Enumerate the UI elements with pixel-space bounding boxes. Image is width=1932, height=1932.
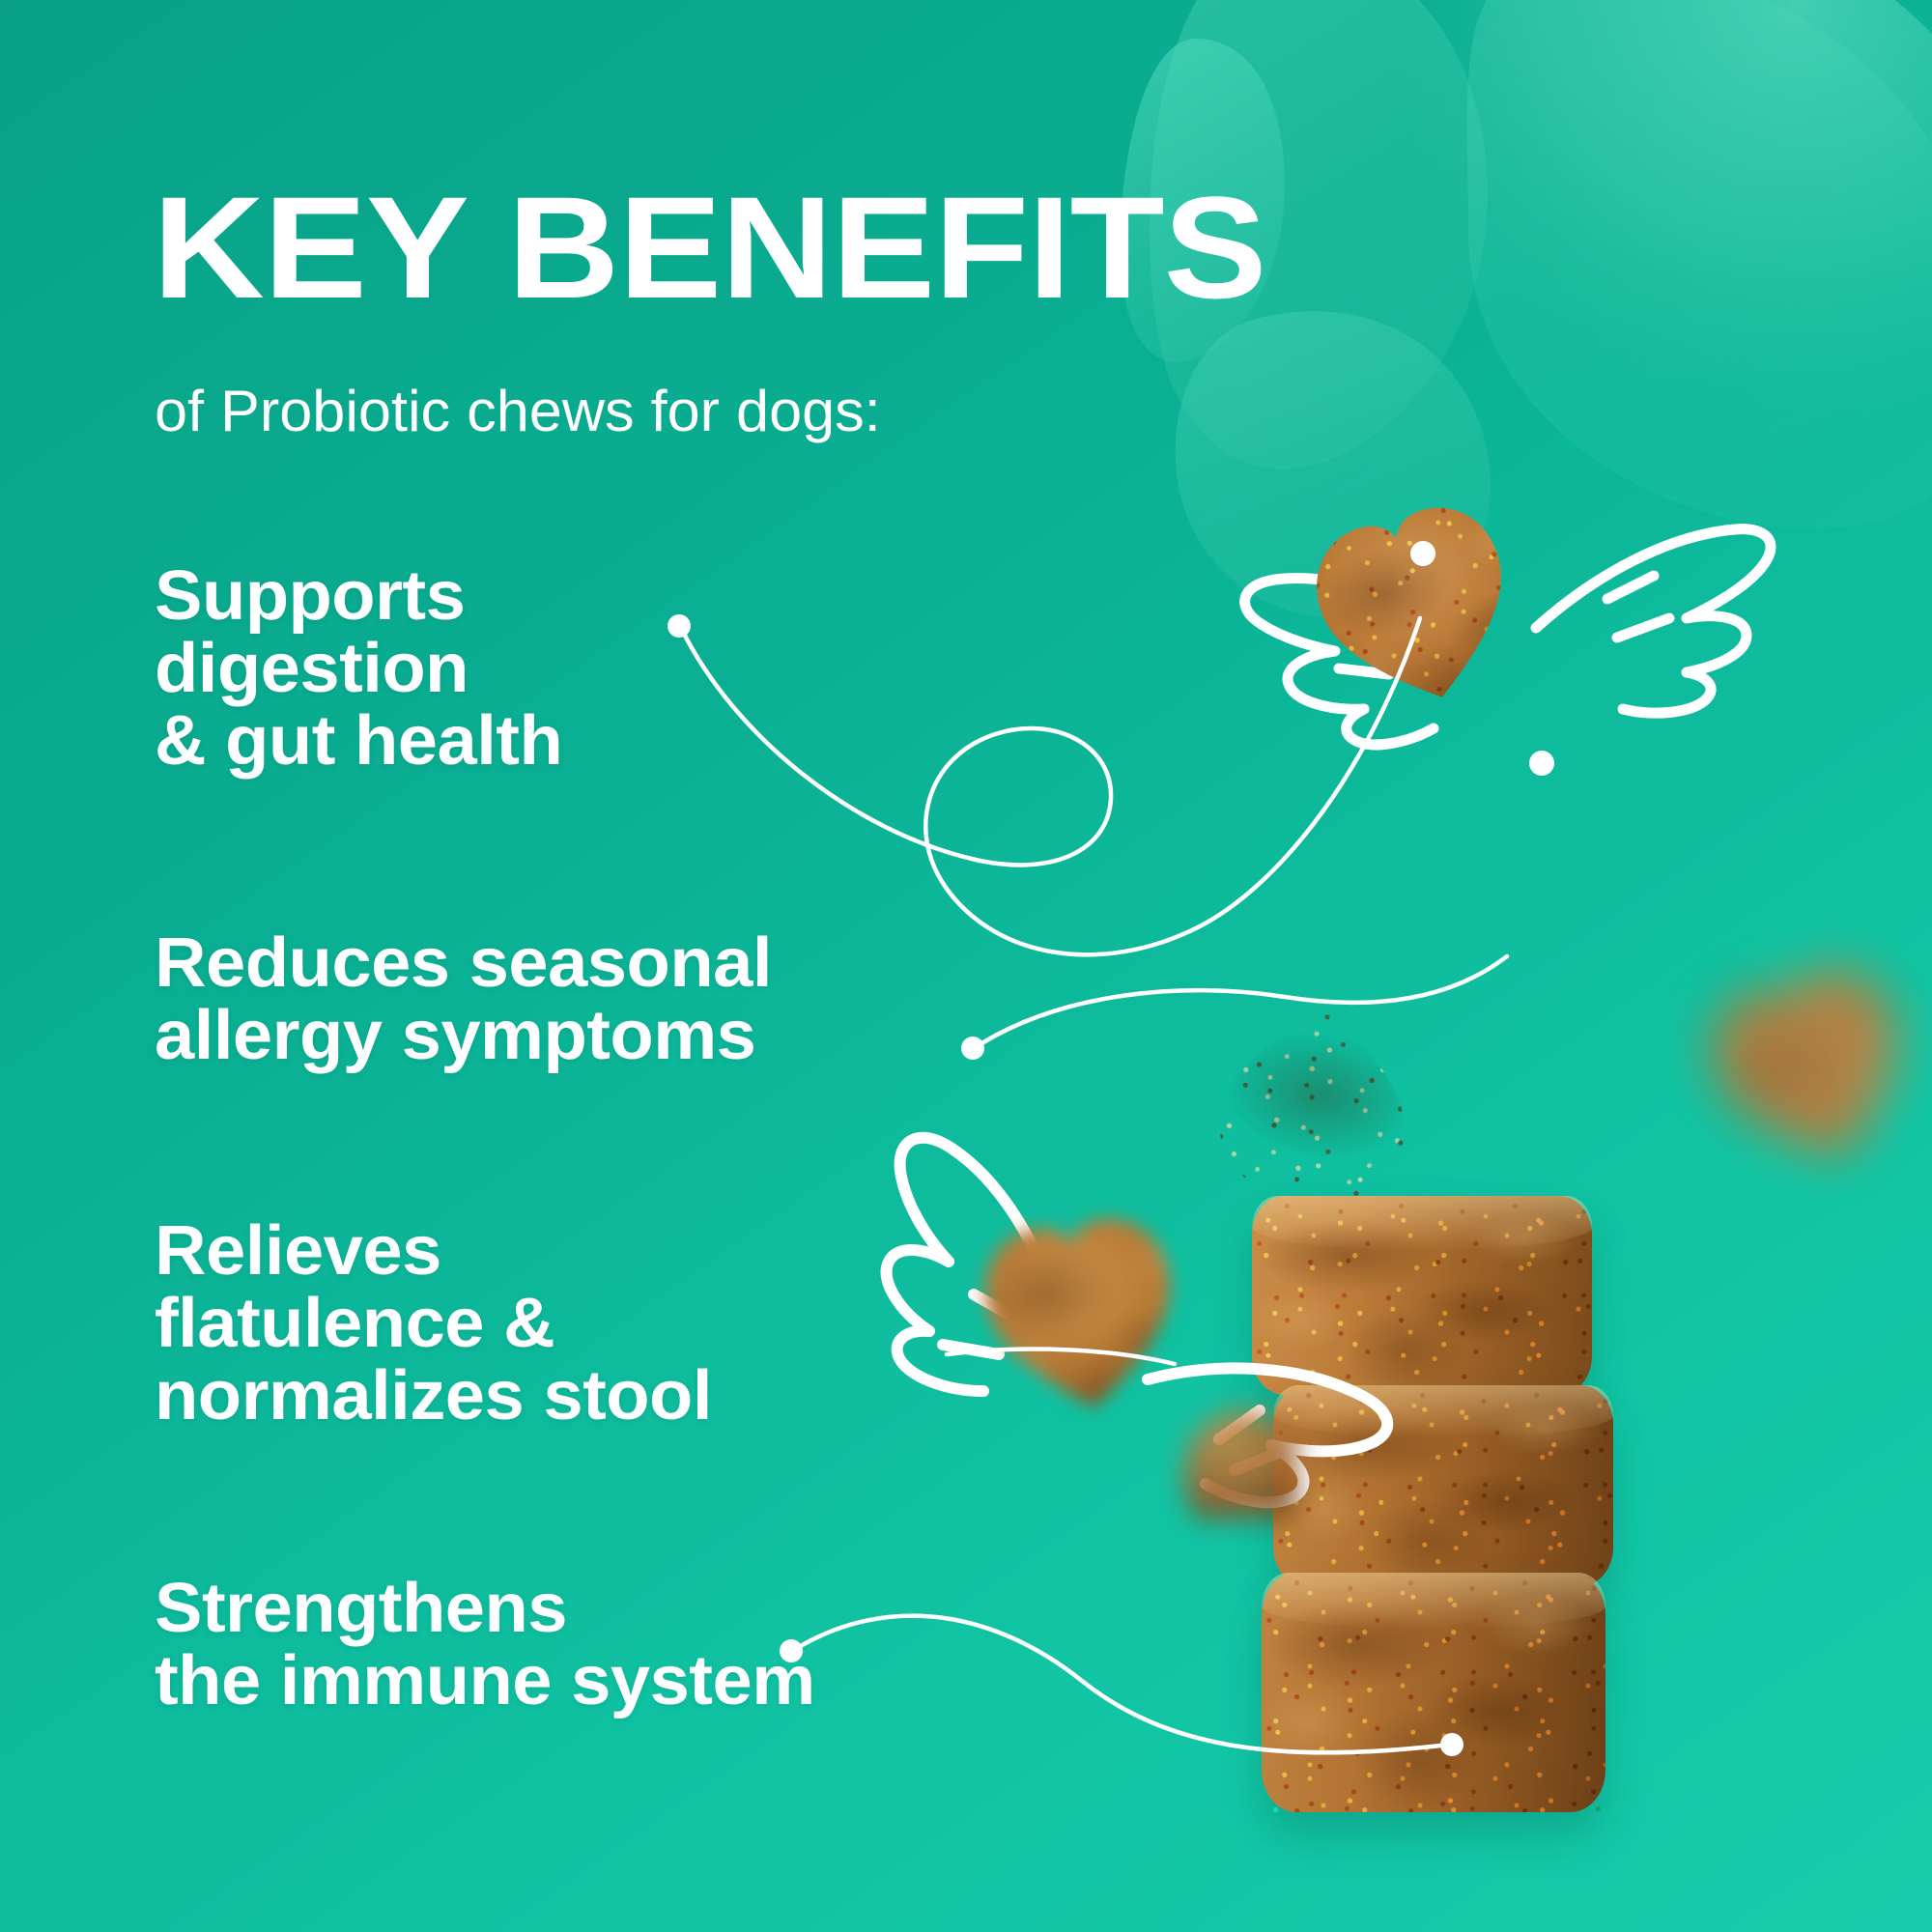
benefit-line: digestion	[155, 633, 562, 705]
benefit-item-allergy: Reduces seasonal allergy symptoms	[155, 927, 772, 1072]
benefit-line: allergy symptoms	[155, 1000, 772, 1072]
benefit-item-immune: Strengthens the immune system	[155, 1573, 815, 1718]
connector-dot-allergy-start	[961, 1037, 984, 1060]
benefit-line: the immune system	[155, 1645, 815, 1718]
stack-chew-4	[1273, 1385, 1613, 1586]
page-subtitle: of Probiotic chews for dogs:	[155, 383, 881, 440]
connector-dot-digestion-start	[668, 614, 691, 638]
benefit-line: Relieves	[155, 1215, 712, 1288]
page-title: KEY BENEFITS	[153, 180, 1266, 316]
benefit-item-digestion: Supports digestion & gut health	[155, 560, 562, 778]
blurred-chew-right	[1729, 956, 1932, 1246]
blurred-chew-small	[1180, 1406, 1296, 1519]
benefit-line: normalizes stool	[155, 1360, 712, 1433]
benefit-line: Strengthens	[155, 1573, 815, 1645]
benefit-line: Reduces seasonal	[155, 927, 772, 1000]
stack-chew-3	[1252, 1196, 1592, 1395]
connector-dot-digestion-end2	[1529, 751, 1554, 776]
stack-chew-5	[1262, 1573, 1605, 1812]
promo-graphic: KEY BENEFITS of Probiotic chews for dogs…	[0, 0, 1932, 1932]
flying-chew-top	[1325, 502, 1578, 744]
benefit-line: flatulence &	[155, 1288, 712, 1360]
stack-chew-2	[1229, 869, 1588, 1209]
benefit-line: Supports	[155, 560, 562, 633]
benefit-line: & gut health	[155, 705, 562, 778]
benefit-item-flatulence: Relieves flatulence & normalizes stool	[155, 1215, 712, 1433]
